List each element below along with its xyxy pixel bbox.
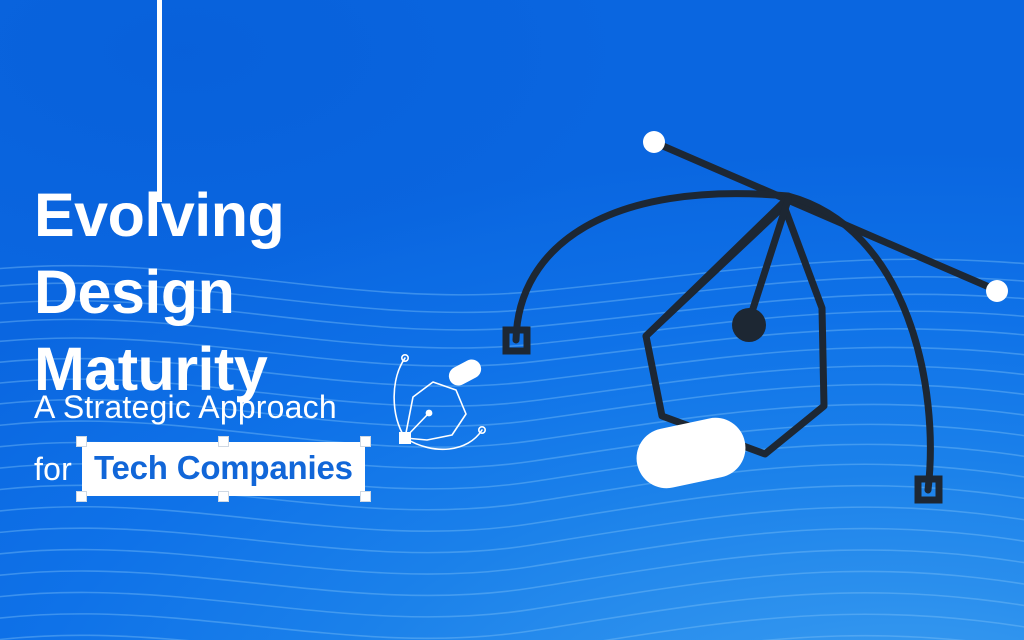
pen-nib-tool (488, 118, 1024, 518)
subtitle-line-2: for Tech Companies (34, 441, 365, 497)
center-anchor-dot (732, 308, 766, 342)
selected-text-frame[interactable]: Tech Companies (82, 442, 365, 496)
round-anchor-left (643, 131, 665, 153)
subtitle-prefix: for (34, 451, 72, 488)
resize-handle-bottom-left[interactable] (76, 491, 87, 502)
center-anchor-dot (426, 410, 433, 417)
highlighted-phrase: Tech Companies (94, 446, 353, 490)
resize-handle-top-left[interactable] (76, 436, 87, 447)
slide-canvas: Evolving Design Maturity A Strategic App… (0, 0, 1024, 640)
subtitle-line-1: A Strategic Approach (34, 387, 337, 427)
round-anchor-right (986, 280, 1008, 302)
rounded-pill-shape (446, 356, 485, 389)
rounded-pill-shape (631, 412, 751, 494)
resize-handle-bottom-right[interactable] (360, 491, 371, 502)
resize-handle-bottom-center[interactable] (218, 491, 229, 502)
square-anchor-handle (399, 432, 411, 444)
text-caret (157, 0, 162, 202)
resize-handle-top-center[interactable] (218, 436, 229, 447)
resize-handle-top-right[interactable] (360, 436, 371, 447)
